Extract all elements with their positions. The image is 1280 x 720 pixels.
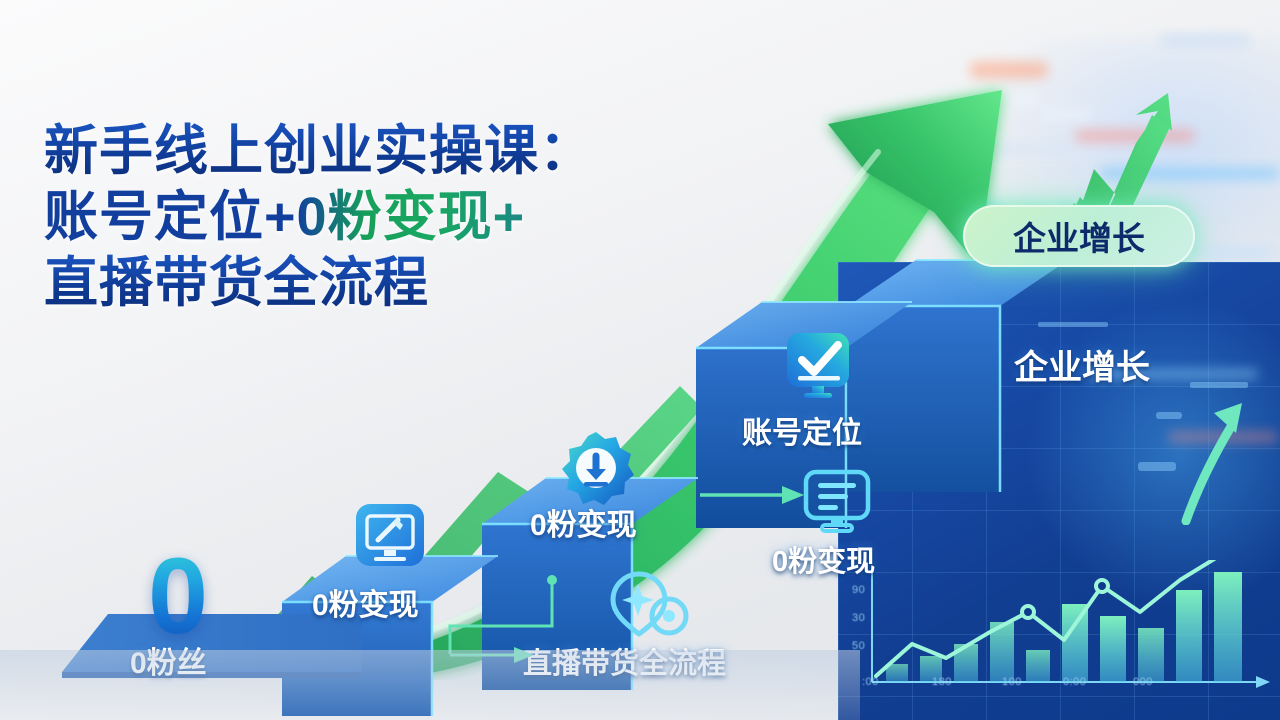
floor-reflection (0, 650, 860, 720)
chart-xtick-1: 180 (932, 676, 952, 688)
chart-xtick-4: 000 (1133, 676, 1153, 688)
headline-line-2: 账号定位+0粉变现+ (44, 184, 744, 250)
stair-label-4: 企业增长 (1014, 340, 1150, 389)
chart-ytick-0: 90 (852, 584, 865, 596)
pill-enterprise-growth[interactable]: 企业增长 (963, 205, 1195, 267)
connector-arrow-3 (700, 480, 810, 510)
monitor-pen-icon (352, 500, 428, 576)
gear-download-icon (557, 430, 635, 508)
teal-up-arrow-icon (1180, 395, 1250, 525)
chart-xtick-2: 100 (1002, 676, 1022, 688)
chart-xtick-0: :00 (862, 676, 879, 688)
headline-block: 新手线上创业实操课： 账号定位+0粉变现+ 直播带货全流程 (44, 118, 744, 316)
hero-zero-number: 0 (148, 542, 208, 650)
poster-canvas: 90 30 50 :00 180 100 0:00 000 (0, 0, 1280, 720)
monitor-check-icon (782, 328, 860, 406)
headline-line-1: 新手线上创业实操课： (44, 118, 744, 184)
headline-line-3: 直播带货全流程 (44, 250, 744, 316)
pill-label: 企业增长 (1013, 212, 1145, 260)
stair-label-1: 0粉变现 (312, 580, 419, 624)
chart-bars (886, 572, 1242, 682)
stair-label-3: 账号定位 (742, 408, 862, 452)
chart-xtick-3: 0:00 (1063, 676, 1086, 688)
chart-ytick-1: 30 (852, 612, 865, 624)
flow-label-monetize: 0粉变现 (772, 538, 875, 580)
monitor-lines-icon (800, 468, 876, 538)
location-sparkle-icon (607, 568, 691, 642)
